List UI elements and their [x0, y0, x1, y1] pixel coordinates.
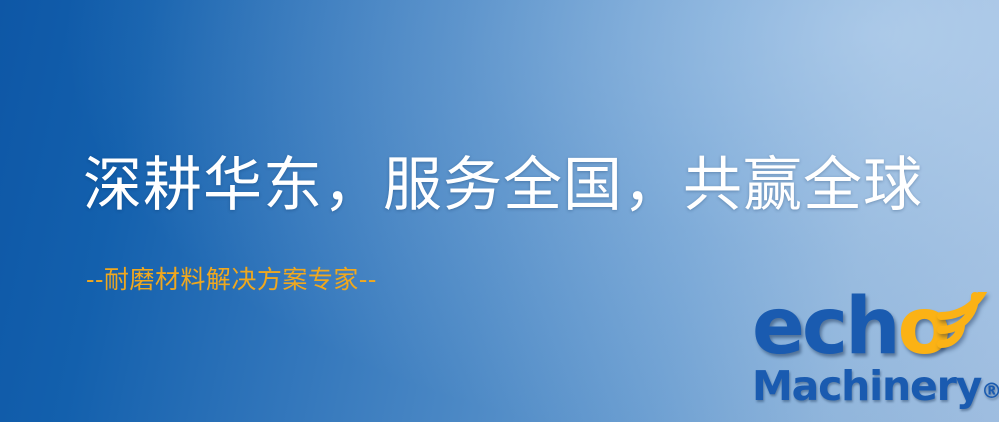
brand-logo[interactable]: echo Machinery®: [748, 296, 999, 422]
logo-echo-text: echo: [752, 288, 948, 366]
logo-tagline-text: Machinery: [752, 362, 981, 410]
logo-echo-prefix: ech: [752, 282, 898, 372]
hero-banner: 深耕华东，服务全国，共赢全球 --耐磨材料解决方案专家-- echo Machi…: [0, 0, 999, 422]
page-subtitle: --耐磨材料解决方案专家--: [86, 265, 377, 295]
page-title: 深耕华东，服务全国，共赢全球: [83, 152, 923, 218]
logo-tagline: Machinery®: [752, 366, 999, 407]
registered-trademark-icon: ®: [981, 379, 999, 403]
signal-waves-icon: [935, 292, 997, 348]
